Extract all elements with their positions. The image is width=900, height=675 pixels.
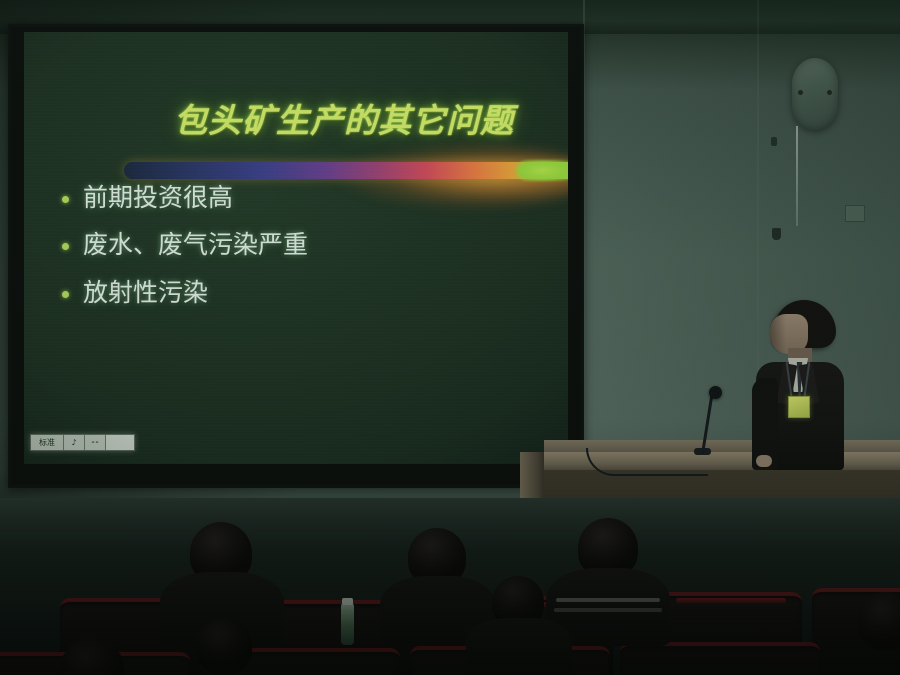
audience-shirt-stripe — [554, 608, 662, 612]
projected-slide: 包头矿生产的其它问题 前期投资很高 废水、废气污染严重 放射性污染 — [24, 32, 568, 464]
audience-head — [196, 618, 252, 674]
presenter-face-shadow — [770, 314, 786, 354]
accent-bar-gradient — [124, 162, 568, 179]
bullet-dot-icon — [62, 196, 69, 203]
wall-screw — [771, 137, 777, 146]
seat-rail — [676, 598, 786, 603]
pen-tool-icon[interactable]: ♪ — [64, 435, 85, 450]
auditorium-presentation-photo: 包头矿生产的其它问题 前期投资很高 废水、废气污染严重 放射性污染 — [0, 0, 900, 675]
water-bottle — [341, 603, 354, 645]
slide-bullet-list: 前期投资很高 废水、废气污染严重 放射性污染 — [52, 182, 552, 324]
wall-outlet-plate — [845, 205, 865, 222]
presenter-at-podium — [740, 300, 850, 470]
bullet-text: 放射性污染 — [83, 277, 208, 308]
speaker-cable — [796, 126, 798, 226]
bullet-text: 废水、废气污染严重 — [83, 229, 308, 260]
bullet-dot-icon — [62, 291, 69, 298]
bullet-dot-icon — [62, 243, 69, 250]
slide-panel-icon[interactable] — [106, 435, 134, 450]
microphone-icon — [709, 386, 722, 399]
presenter-hand — [756, 455, 772, 467]
list-item: 放射性污染 — [52, 277, 552, 308]
list-item: 废水、废气污染严重 — [52, 229, 552, 260]
wall-cable-clip — [772, 228, 781, 240]
microphone-cable — [586, 448, 708, 476]
accent-bar-tip — [516, 160, 568, 181]
presenter-name-badge — [788, 396, 810, 418]
audience-shirt-stripe — [556, 598, 660, 602]
list-item: 前期投资很高 — [52, 182, 552, 213]
bullet-text: 前期投资很高 — [83, 182, 233, 213]
slide-title: 包头矿生产的其它问题 — [174, 94, 568, 142]
projection-screen-frame: 包头矿生产的其它问题 前期投资很高 废水、废气污染严重 放射性污染 — [8, 24, 584, 488]
standard-label[interactable]: 标准 — [31, 435, 64, 450]
water-bottle-cap — [342, 598, 353, 605]
navigation-icon[interactable]: ⁃⁃ — [85, 435, 106, 450]
wall-speaker-icon — [792, 58, 838, 130]
seat — [620, 642, 820, 675]
audience-shoulders — [466, 618, 572, 675]
powerpoint-presenter-toolbar[interactable]: 标准 ♪ ⁃⁃ — [30, 434, 135, 451]
